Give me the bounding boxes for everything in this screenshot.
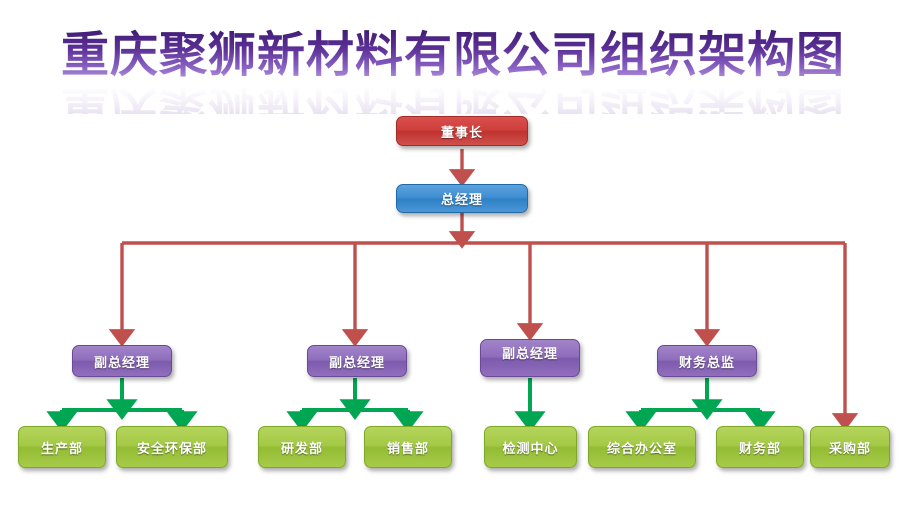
node-dept-general-office[interactable]: 综合办公室	[588, 426, 696, 468]
node-chairman[interactable]: 董事长	[396, 116, 528, 146]
node-finance-director[interactable]: 财务总监	[657, 345, 757, 377]
node-dept-safety-env[interactable]: 安全环保部	[116, 426, 228, 468]
node-deputy-3[interactable]: 副总经理	[480, 339, 580, 377]
node-dept-finance[interactable]: 财务部	[716, 426, 804, 468]
node-finance-director-label: 财务总监	[679, 352, 735, 371]
node-dept-procurement-label: 采购部	[829, 438, 871, 457]
node-dept-testing-center[interactable]: 检测中心	[484, 426, 577, 468]
node-deputy-1-label: 副总经理	[94, 352, 150, 371]
node-dept-production[interactable]: 生产部	[18, 426, 106, 468]
node-dept-general-office-label: 综合办公室	[607, 438, 677, 457]
node-dept-sales-label: 销售部	[387, 438, 429, 457]
node-dept-testing-center-label: 检测中心	[502, 438, 558, 457]
node-chairman-label: 董事长	[441, 122, 483, 141]
org-chart-canvas: 重庆聚狮新材料有限公司组织架构图 重庆聚狮新材料有限公司组织架构图	[0, 0, 906, 510]
node-dept-production-label: 生产部	[41, 438, 83, 457]
node-dept-sales[interactable]: 销售部	[364, 426, 452, 468]
node-deputy-1[interactable]: 副总经理	[72, 345, 172, 377]
node-general-manager-label: 总经理	[441, 189, 483, 208]
node-dept-rnd-label: 研发部	[281, 438, 323, 457]
node-dept-procurement[interactable]: 采购部	[810, 426, 890, 468]
node-general-manager[interactable]: 总经理	[396, 184, 528, 213]
node-dept-finance-label: 财务部	[739, 438, 781, 457]
node-dept-rnd[interactable]: 研发部	[258, 426, 346, 468]
node-deputy-2-label: 副总经理	[329, 352, 385, 371]
node-deputy-2[interactable]: 副总经理	[307, 345, 407, 377]
node-dept-safety-env-label: 安全环保部	[137, 438, 207, 457]
node-deputy-3-label: 副总经理	[502, 343, 558, 362]
